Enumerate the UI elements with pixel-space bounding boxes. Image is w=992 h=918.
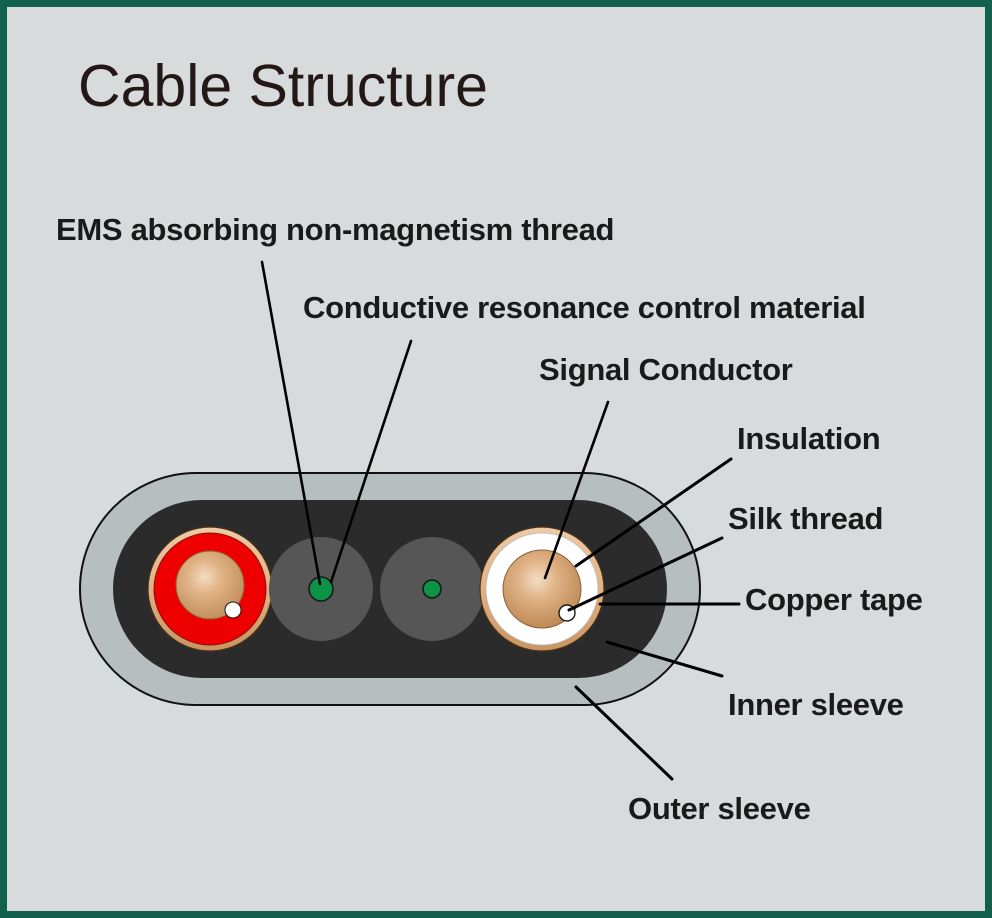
label-conductive-resonance: Conductive resonance control material bbox=[303, 290, 866, 326]
leader-outer-sleeve bbox=[576, 687, 672, 779]
label-ems-thread: EMS absorbing non-magnetism thread bbox=[56, 212, 614, 248]
conductor-gray-right bbox=[380, 537, 484, 641]
label-outer-sleeve: Outer sleeve bbox=[628, 791, 811, 827]
ems-thread-dot-left bbox=[309, 577, 333, 601]
ems-thread-dot-right bbox=[423, 580, 441, 598]
conductor-gray-left bbox=[269, 537, 373, 641]
conductor-white bbox=[480, 527, 604, 651]
cable-structure-diagram: Cable Structure bbox=[0, 0, 992, 918]
label-copper-tape: Copper tape bbox=[745, 582, 923, 618]
label-signal-conductor: Signal Conductor bbox=[539, 352, 793, 388]
label-insulation: Insulation bbox=[737, 421, 880, 457]
silk-thread-dot-red bbox=[225, 602, 241, 618]
cable-cross-section-illustration bbox=[0, 0, 992, 918]
conductor-red bbox=[148, 527, 272, 651]
label-silk-thread: Silk thread bbox=[728, 501, 883, 537]
page-title: Cable Structure bbox=[78, 52, 488, 120]
label-inner-sleeve: Inner sleeve bbox=[728, 687, 904, 723]
